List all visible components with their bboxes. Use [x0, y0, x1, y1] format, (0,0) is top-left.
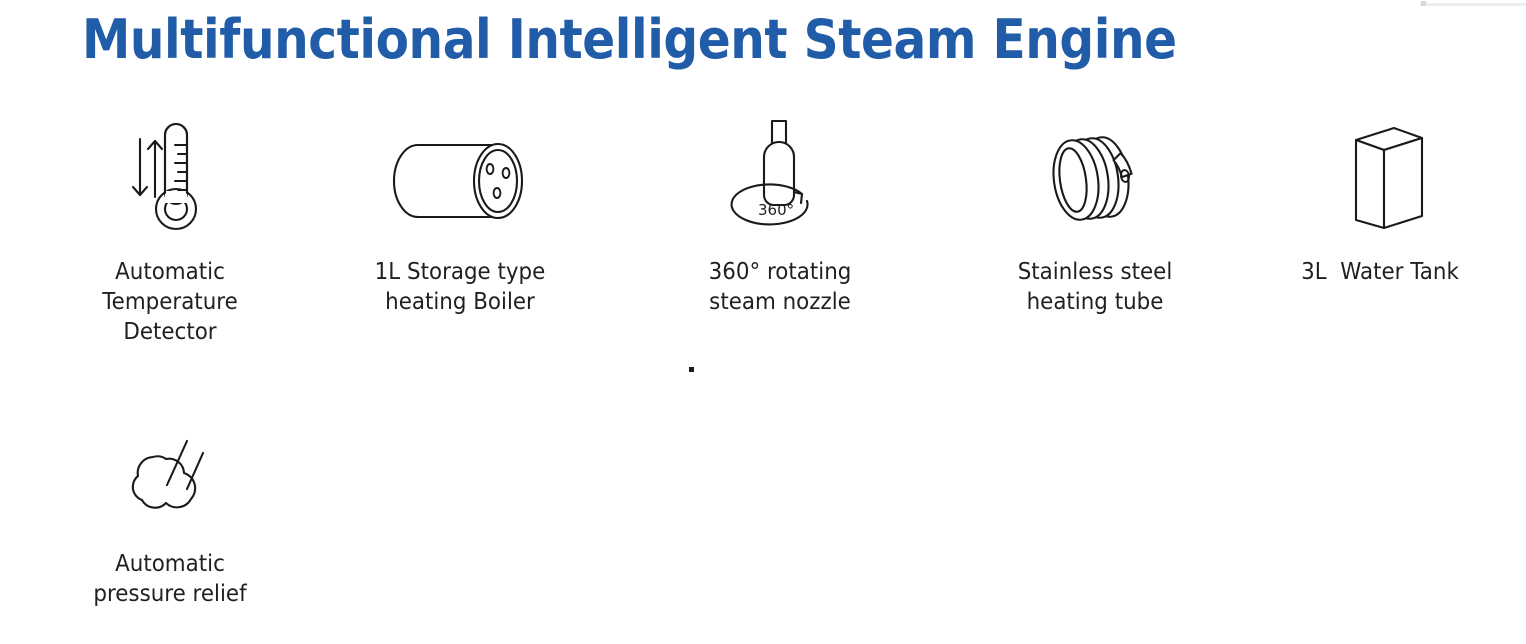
- water-tank-box-icon: [1326, 122, 1434, 234]
- feature-item-steam-nozzle: 360° 360° rotating steam nozzle: [655, 110, 905, 317]
- icon-container: [335, 110, 585, 235]
- feature-caption: 360° rotating steam nozzle: [664, 257, 897, 317]
- rotating-nozzle-icon: 360°: [712, 113, 848, 235]
- feature-caption: 1L Storage type heating Boiler: [344, 257, 577, 317]
- feature-item-water-tank: 3L Water Tank: [1255, 110, 1505, 287]
- feature-caption: Automatic Temperature Detector: [54, 257, 287, 347]
- page-title: Multifunctional Intelligent Steam Engine: [82, 8, 1177, 72]
- feature-item-boiler: 1L Storage type heating Boiler: [335, 110, 585, 317]
- heating-coil-icon: [1030, 123, 1160, 235]
- feature-item-pressure-relief: Automatic pressure relief: [45, 422, 295, 609]
- feature-caption: 3L Water Tank: [1264, 257, 1497, 287]
- feature-caption: Automatic pressure relief: [54, 549, 287, 609]
- nozzle-degree-label: 360°: [758, 201, 794, 219]
- icon-container: [1255, 110, 1505, 235]
- icon-container: [970, 110, 1220, 235]
- thermometer-arrows-icon: [115, 115, 225, 235]
- feature-item-heating-tube: Stainless steel heating tube: [970, 110, 1220, 317]
- feature-item-temperature-detector: Automatic Temperature Detector: [45, 110, 295, 347]
- icon-container: 360°: [655, 110, 905, 235]
- scan-artifact-tick: [1421, 1, 1426, 6]
- icon-container: [45, 110, 295, 235]
- boiler-cylinder-icon: [386, 125, 534, 235]
- feature-caption: Stainless steel heating tube: [979, 257, 1212, 317]
- stray-dot-artifact: [689, 367, 694, 372]
- scan-artifact-line: [1420, 3, 1526, 6]
- icon-container: [45, 422, 295, 527]
- steam-cloud-relief-icon: [115, 427, 225, 527]
